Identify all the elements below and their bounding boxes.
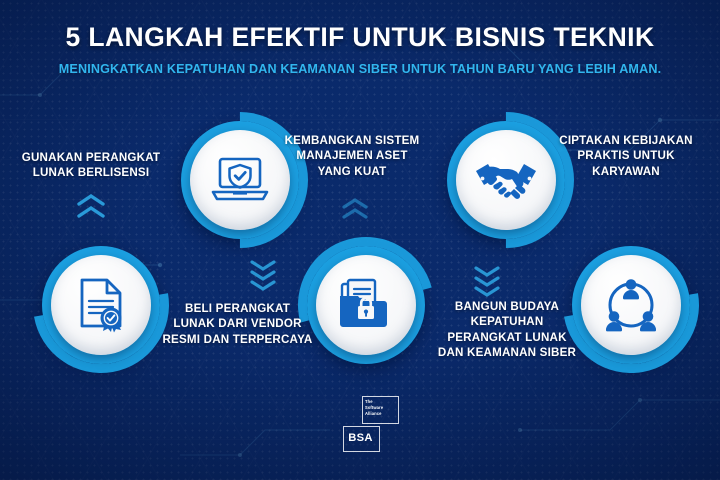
step-1-label: GUNAKAN PERANGKATLUNAK BERLISENSI xyxy=(6,150,176,181)
document-certificate-seal-icon xyxy=(74,276,128,334)
step-3-label: KEMBANGKAN SISTEMMANAJEMEN ASETYANG KUAT xyxy=(272,133,432,179)
people-network-icon xyxy=(602,277,660,333)
step-2-icon-disc xyxy=(51,255,151,355)
folder-lock-documents-icon xyxy=(337,278,395,332)
infographic-canvas: 5 LANGKAH EFEKTIF UNTUK BISNIS TEKNIK ME… xyxy=(0,0,720,480)
page-title: 5 LANGKAH EFEKTIF UNTUK BISNIS TEKNIK xyxy=(0,22,720,53)
logo-mark: BSA xyxy=(343,426,378,450)
logo-tagline: The Software Alliance xyxy=(365,399,395,416)
bsa-logo[interactable]: The Software Alliance BSA xyxy=(343,396,397,452)
handshake-icon xyxy=(474,157,538,203)
laptop-shield-check-icon xyxy=(209,154,271,206)
step-5-label: CIPTAKAN KEBIJAKANPRAKTIS UNTUKKARYAWAN xyxy=(540,133,712,179)
logo-tagline-line-3: Alliance xyxy=(365,411,395,417)
triple-chevron-down-icon-2 xyxy=(472,262,502,298)
page-subtitle: MENINGKATKAN KEPATUHAN DAN KEAMANAN SIBE… xyxy=(0,62,720,76)
step-4-label: BANGUN BUDAYAKEPATUHANPERANGKAT LUNAKDAN… xyxy=(422,299,592,361)
step-2-label: BELI PERANGKATLUNAK DARI VENDORRESMI DAN… xyxy=(150,301,325,347)
double-chevron-up-icon xyxy=(74,190,108,224)
step-5-icon-disc xyxy=(581,255,681,355)
triple-chevron-down-icon xyxy=(248,256,278,292)
header: 5 LANGKAH EFEKTIF UNTUK BISNIS TEKNIK ME… xyxy=(0,22,720,76)
step-3-icon-disc xyxy=(316,255,416,355)
triple-chevron-up-icon xyxy=(340,196,370,228)
step-node-2[interactable] xyxy=(42,246,160,364)
